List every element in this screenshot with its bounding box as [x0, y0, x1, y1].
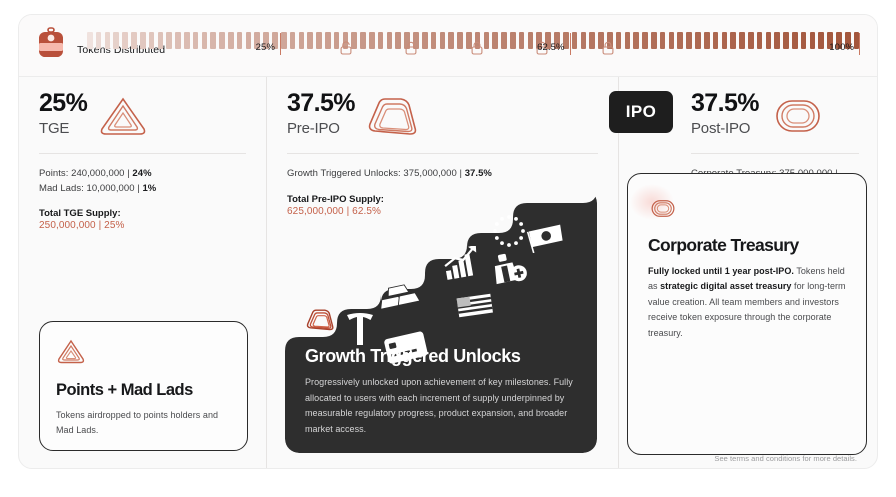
progress-tick-separator	[570, 33, 571, 55]
allocation-row: Points: 240,000,000 | 24%	[39, 167, 246, 182]
progress-tick-label: 100%	[829, 42, 859, 53]
triangle-mark-icon	[56, 338, 86, 364]
stage-header-pre-ipo: 37.5% Pre-IPO	[287, 91, 598, 137]
divider	[287, 153, 598, 154]
stage-percent: 37.5%	[691, 91, 759, 116]
column-pre-ipo: 37.5% Pre-IPO Growth Triggered Unlocks: …	[266, 77, 618, 469]
total-label: Total TGE Supply:	[39, 208, 246, 219]
stage-header-tge: 25% TGE	[39, 91, 246, 137]
oval-mark-icon	[769, 93, 827, 137]
allocation-row: Mad Lads: 10,000,000 | 1%	[39, 182, 246, 197]
footer-note: See terms and conditions for more detail…	[714, 454, 857, 463]
stage-rows-pre-ipo: Growth Triggered Unlocks: 375,000,000 | …	[287, 167, 598, 182]
allocation-share: 37.5%	[465, 168, 492, 179]
quad-mark-icon	[305, 306, 337, 332]
stage-header-post-ipo: 37.5% Post-IPO	[691, 91, 859, 137]
ipo-badge: IPO	[609, 91, 673, 133]
page-root: Tokens Distributed 25%62.5%100% 25% TGE	[0, 0, 896, 497]
progress-tick-label: 25%	[256, 42, 280, 53]
allocation-amount: 375,000,000	[403, 168, 456, 179]
allocation-amount: 240,000,000	[71, 168, 124, 179]
card-body: Tokens airdropped to points holders and …	[56, 408, 231, 438]
card-points-mad-lads[interactable]: Points + Mad Lads Tokens airdropped to p…	[39, 321, 248, 451]
growth-chart-icon	[442, 246, 484, 282]
stage-columns: 25% TGE Points: 240,000,000 | 24%Mad Lad…	[19, 77, 877, 469]
stage-percent: 37.5%	[287, 91, 355, 116]
triangle-mark-icon	[97, 93, 149, 137]
card-body: Fully locked until 1 year post-IPO. Toke…	[648, 264, 846, 341]
infographic-frame: Tokens Distributed 25%62.5%100% 25% TGE	[18, 14, 878, 469]
stage-name: Post-IPO	[691, 121, 759, 136]
progress-header: Tokens Distributed 25%62.5%100%	[19, 15, 877, 77]
stage-name: Pre-IPO	[287, 121, 355, 136]
japan-flag-icon	[525, 221, 567, 253]
progress-tick-label: 62.5%	[537, 42, 569, 53]
growth-card-content: Growth Triggered Unlocks Progressively u…	[305, 306, 579, 437]
card-title: Points + Mad Lads	[56, 381, 231, 400]
healthcare-icon	[490, 251, 530, 289]
total-value: 250,000,000 | 25%	[39, 220, 246, 231]
allocation-amount: 10,000,000	[87, 183, 135, 194]
stage-rows-tge: Points: 240,000,000 | 24%Mad Lads: 10,00…	[39, 167, 246, 196]
body-fragment: strategic digital asset treasury	[660, 281, 791, 291]
divider	[39, 153, 246, 154]
backpack-icon	[36, 27, 66, 61]
card-title: Growth Triggered Unlocks	[305, 346, 579, 367]
allocation-label: Points:	[39, 168, 68, 179]
card-body: Progressively unlocked upon achievement …	[305, 375, 579, 437]
allocation-share: 24%	[132, 168, 151, 179]
allocation-label: Growth Triggered Unlocks:	[287, 168, 401, 179]
column-post-ipo: IPO 37.5% Post-IPO Corp	[618, 77, 878, 469]
allocation-label: Mad Lads:	[39, 183, 84, 194]
eu-flag-icon	[489, 211, 529, 251]
stage-name: TGE	[39, 121, 87, 136]
allocation-share: 1%	[142, 183, 156, 194]
progress-tick-separator	[280, 33, 281, 55]
progress-tick-labels: 25%62.5%100%	[87, 42, 859, 64]
progress-tick-separator	[859, 33, 860, 55]
card-corporate-treasury[interactable]: Corporate Treasury Fully locked until 1 …	[627, 173, 867, 455]
card-growth-triggered-unlocks[interactable]: Growth Triggered Unlocks Progressively u…	[285, 189, 597, 453]
column-tge: 25% TGE Points: 240,000,000 | 24%Mad Lad…	[19, 77, 266, 469]
card-title: Corporate Treasury	[648, 235, 846, 256]
oval-mark-icon	[648, 196, 678, 220]
divider	[691, 153, 859, 154]
stage-percent: 25%	[39, 91, 87, 116]
allocation-row: Growth Triggered Unlocks: 375,000,000 | …	[287, 167, 598, 182]
quad-mark-icon	[365, 93, 423, 137]
body-fragment: Fully locked until 1 year post-IPO.	[648, 266, 794, 276]
